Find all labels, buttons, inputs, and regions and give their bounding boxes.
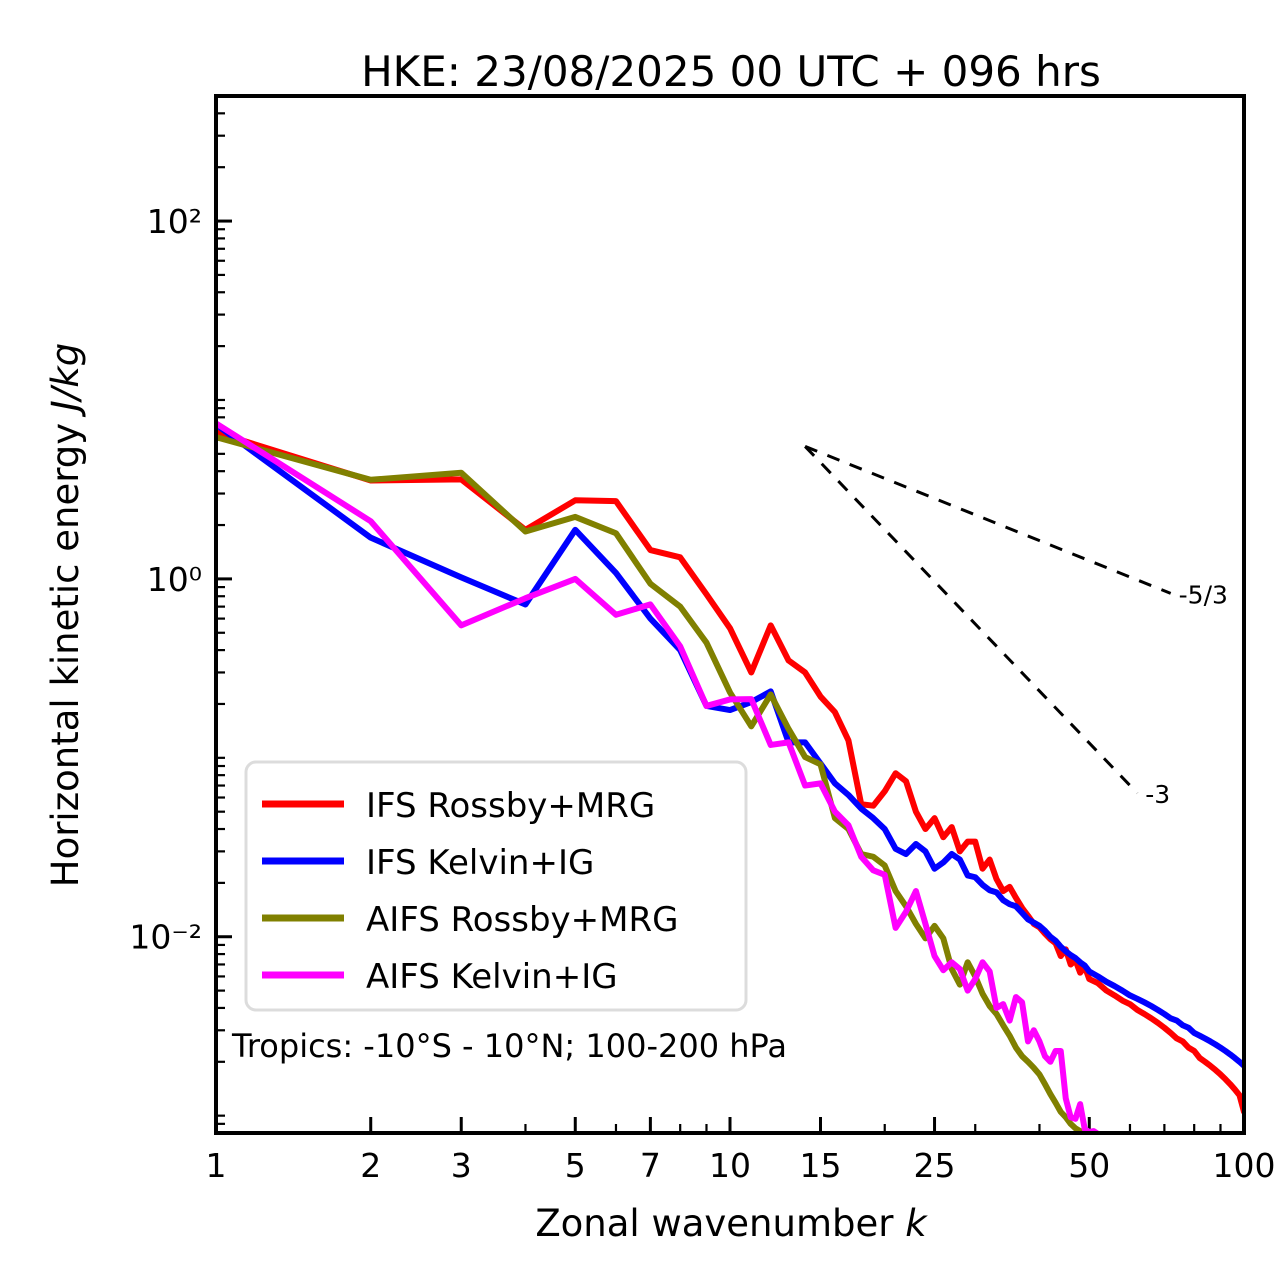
x-axis-label-main: Zonal wavenumber <box>535 1202 905 1245</box>
chart-page: HKE: 23/08/2025 00 UTC + 096 hrs Horizon… <box>0 0 1280 1288</box>
legend-item-label[interactable]: IFS Rossby+MRG <box>366 786 655 826</box>
legend-item-label[interactable]: AIFS Rossby+MRG <box>366 900 678 940</box>
figure-background <box>0 0 1280 1288</box>
x-axis-label: Zonal wavenumber k <box>535 1202 928 1245</box>
x-tick-label: 3 <box>451 1146 472 1185</box>
x-tick-label: 25 <box>914 1146 956 1185</box>
svg-text:Horizontal kinetic energy J/kg: Horizontal kinetic energy J/kg <box>44 343 87 887</box>
x-tick-label: 2 <box>360 1146 381 1185</box>
x-tick-label: 50 <box>1068 1146 1110 1185</box>
x-tick-label: 15 <box>800 1146 842 1185</box>
y-axis-label-symbol: J/kg <box>44 343 87 418</box>
y-axis-label: Horizontal kinetic energy J/kg <box>44 343 87 887</box>
slope-reference-label: -5/3 <box>1179 580 1228 609</box>
legend-item-label[interactable]: IFS Kelvin+IG <box>366 843 594 883</box>
x-tick-label: 1 <box>206 1146 227 1185</box>
x-axis-label-symbol: k <box>905 1202 928 1245</box>
legend-item-label[interactable]: AIFS Kelvin+IG <box>366 957 618 997</box>
slope-reference-label: -3 <box>1145 780 1170 809</box>
y-tick-label: 10⁰ <box>147 560 202 599</box>
region-annotation: Tropics: -10°S - 10°N; 100-200 hPa <box>231 1027 787 1065</box>
y-axis-label-main: Horizontal kinetic energy <box>44 411 87 887</box>
x-tick-label: 100 <box>1213 1146 1276 1185</box>
spectrum-figure: HKE: 23/08/2025 00 UTC + 096 hrs Horizon… <box>0 0 1280 1288</box>
x-tick-label: 7 <box>640 1146 661 1185</box>
chart-title: HKE: 23/08/2025 00 UTC + 096 hrs <box>361 47 1101 96</box>
y-tick-label: 10² <box>147 202 202 241</box>
legend[interactable]: IFS Rossby+MRGIFS Kelvin+IGAIFS Rossby+M… <box>246 762 746 1010</box>
x-tick-label: 10 <box>709 1146 751 1185</box>
x-tick-label: 5 <box>565 1146 586 1185</box>
y-tick-label: 10⁻² <box>129 918 202 957</box>
